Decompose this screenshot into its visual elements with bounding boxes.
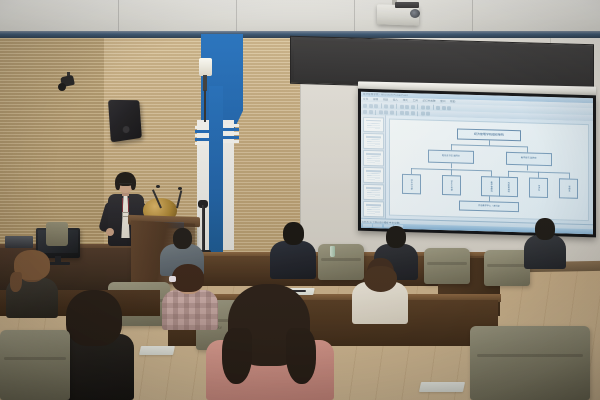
menu-file[interactable]: 文件: [363, 98, 368, 101]
projector-top-cover: [395, 2, 419, 8]
slide-thumbnail[interactable]: [363, 184, 384, 200]
copy-icon[interactable]: [405, 104, 409, 108]
slide-thumbnail[interactable]: [363, 201, 384, 217]
seat-empty: [424, 248, 470, 284]
org-node-n2: 学生工作室: [442, 175, 461, 196]
menu-help[interactable]: 帮助: [450, 100, 455, 103]
slide-canvas: 经济管理学院组织架构 党总支书记 副院长 教学研究 副院长 综合办公室 学生工作…: [389, 119, 589, 222]
hair-strand-left: [222, 328, 252, 384]
desk-paper: [139, 346, 175, 355]
camera-lens-icon: [58, 83, 66, 91]
menu-slideshow[interactable]: 幻灯片放映: [423, 99, 436, 102]
desk-equipment: [5, 236, 33, 248]
align-right-icon[interactable]: [411, 111, 415, 115]
paste-icon[interactable]: [411, 105, 415, 109]
ppt-workspace: 经济管理学院组织架构 党总支书记 副院长 教学研究 副院长 综合办公室 学生工作…: [361, 115, 593, 224]
slide-thumbnail[interactable]: [363, 133, 384, 149]
org-chart: 经济管理学院组织架构 党总支书记 副院长 教学研究 副院长 综合办公室 学生工作…: [394, 123, 584, 217]
bullet-list-icon[interactable]: [421, 111, 425, 115]
org-node-n5: 经济系: [529, 177, 548, 198]
menu-view[interactable]: 视图: [383, 98, 388, 101]
presenter-chair: [46, 222, 68, 246]
org-node-l1: 党总支书记 副院长: [428, 149, 474, 164]
save-icon[interactable]: [374, 104, 378, 108]
font-name-icon[interactable]: [363, 110, 367, 114]
slide-stage: 经济管理学院组织架构 党总支书记 副院长 教学研究 副院长 综合办公室 学生工作…: [386, 115, 593, 224]
presenter-lanyard: [122, 198, 129, 212]
new-icon[interactable]: [363, 103, 367, 107]
hair-strand-right: [286, 328, 316, 384]
insert-table-icon[interactable]: [436, 105, 440, 109]
desk-paper: [419, 382, 465, 392]
hair-clip-icon: [169, 276, 176, 282]
attendee-ponytail: [6, 250, 58, 314]
menu-edit[interactable]: 编辑: [373, 98, 378, 101]
org-node-root: 经济管理学院组织架构: [457, 128, 522, 141]
menu-window[interactable]: 窗口: [440, 100, 445, 103]
slide-thumbnail-panel[interactable]: [361, 115, 386, 219]
bold-icon[interactable]: [379, 110, 383, 114]
org-node-footer: 实验教学中心 / 资料室: [459, 200, 520, 212]
sconce-cord: [204, 90, 206, 122]
align-left-icon[interactable]: [400, 111, 404, 115]
italic-icon[interactable]: [384, 110, 388, 114]
wall-speaker-icon: [108, 100, 142, 143]
open-icon[interactable]: [369, 103, 373, 107]
attendee-far-right: [524, 218, 566, 266]
attendee-cream-top: [352, 258, 408, 320]
microphone-head-icon: [178, 187, 182, 190]
lecture-hall-photo: 经济管理学院 - Microsoft PowerPoint 文件 编辑 视图 插…: [0, 0, 600, 400]
preview-icon[interactable]: [390, 104, 394, 108]
align-center-icon[interactable]: [405, 111, 409, 115]
projector-lens-icon: [410, 9, 420, 18]
seat-foreground: [0, 330, 70, 400]
org-node-n4: 科研管理科: [499, 176, 518, 197]
font-size-icon[interactable]: [369, 110, 373, 114]
org-node-n1: 综合办公室: [402, 174, 421, 195]
undo-icon[interactable]: [421, 105, 425, 109]
org-node-l2: 教学研究 副院长: [506, 152, 552, 167]
menu-format[interactable]: 格式: [403, 99, 408, 102]
water-bottle: [330, 246, 335, 257]
number-list-icon[interactable]: [426, 112, 430, 116]
insert-chart-icon[interactable]: [442, 106, 446, 110]
wall-sconce-lamp-icon: [199, 58, 212, 76]
redo-icon[interactable]: [426, 105, 430, 109]
slide-thumbnail[interactable]: [363, 150, 384, 166]
sconce-arm: [203, 75, 207, 91]
microphone-head-icon: [156, 185, 160, 188]
presenter-glasses-icon: [119, 183, 132, 186]
underline-icon[interactable]: [390, 111, 394, 115]
slide-thumbnail[interactable]: [363, 167, 384, 183]
menu-tools[interactable]: 工具: [413, 99, 418, 102]
menu-insert[interactable]: 插入: [393, 99, 398, 102]
zoom-select-icon[interactable]: [447, 106, 451, 110]
attendee-pink-sweater: [206, 284, 334, 400]
presenter-left-hand: [106, 228, 114, 236]
wall-left-bamboo-shaded: [0, 38, 104, 253]
ponytail: [10, 272, 22, 292]
slide-thumbnail[interactable]: [363, 116, 384, 132]
org-node-n6: 管理系: [559, 178, 578, 199]
cut-icon[interactable]: [400, 104, 404, 108]
projection-screen: 经济管理学院 - Microsoft PowerPoint 文件 编辑 视图 插…: [358, 89, 596, 238]
taskbar-button[interactable]: [363, 224, 372, 227]
ceiling: [0, 0, 600, 34]
print-icon[interactable]: [384, 104, 388, 108]
seat-right-foreground: [470, 326, 590, 400]
attendee-suit: [270, 222, 316, 276]
